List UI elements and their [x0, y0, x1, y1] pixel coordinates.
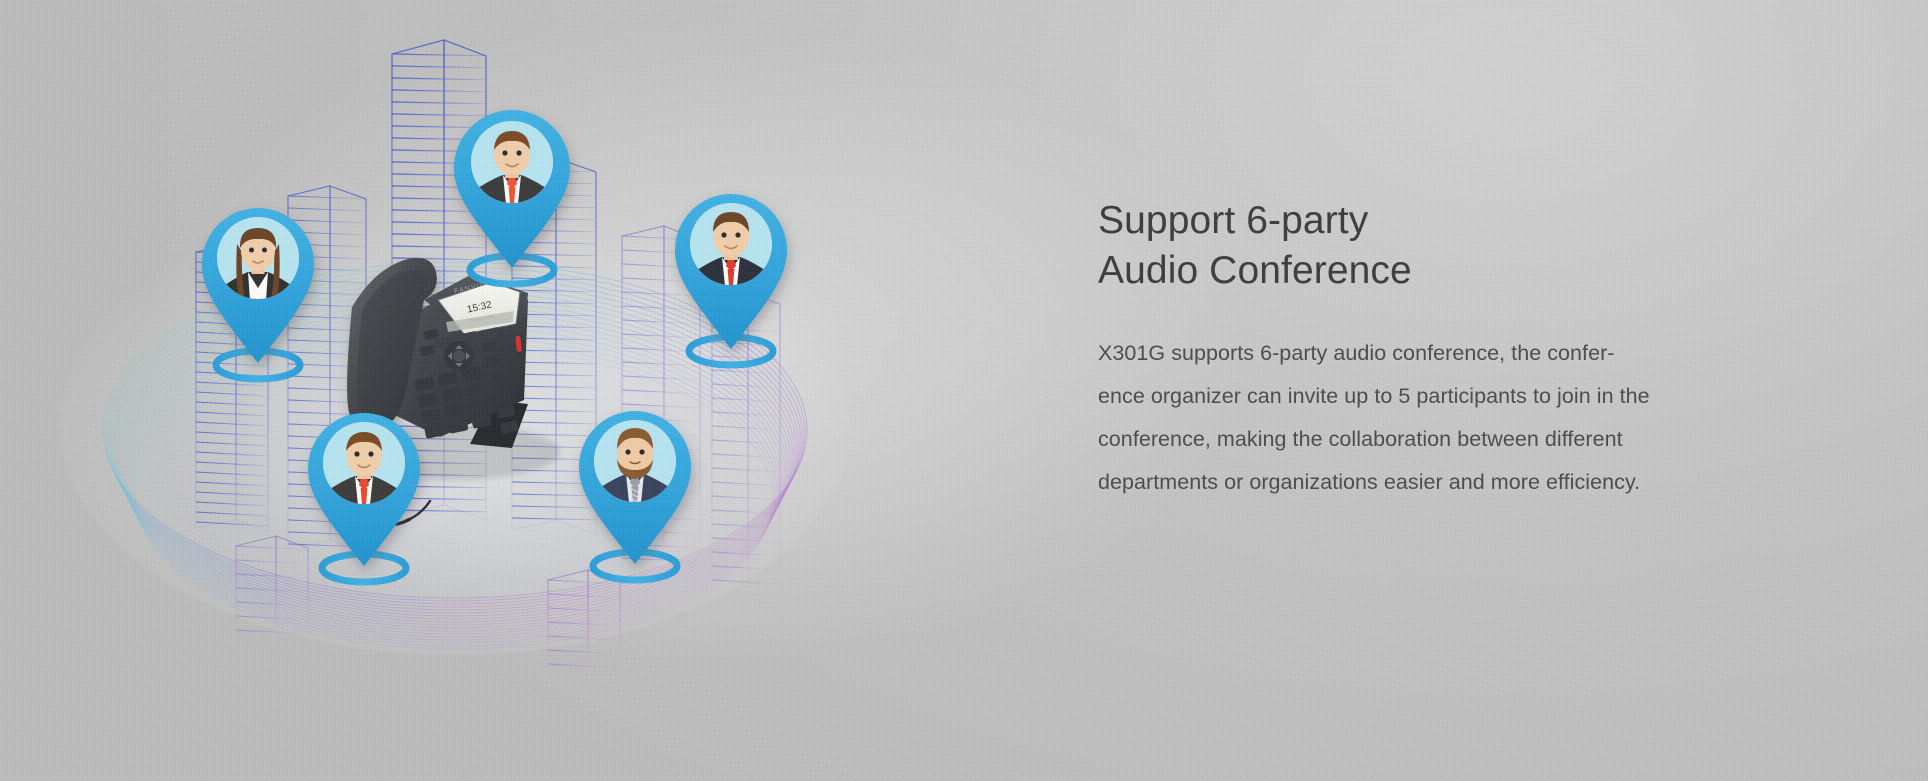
avatar-eye-left [502, 150, 507, 155]
avatar-eye-left [354, 451, 359, 456]
copy-block: Support 6-party Audio Conference X301G s… [1098, 196, 1758, 504]
promo-banner: FANVIL 15:32 31 AUG FRI [0, 0, 1928, 781]
illustration-svg: FANVIL 15:32 31 AUG FRI [0, 0, 1030, 781]
description-line: X301G supports 6-party audio conference,… [1098, 332, 1758, 375]
conference-illustration: FANVIL 15:32 31 AUG FRI [0, 0, 1030, 781]
avatar-eye-left [249, 248, 254, 253]
avatar-eye-left [721, 232, 726, 237]
avatar-eye-right [735, 232, 740, 237]
avatar-eye-right [639, 449, 644, 454]
page-title: Support 6-party Audio Conference [1098, 196, 1758, 296]
avatar-eye-right [516, 150, 521, 155]
avatar-eye-right [368, 451, 373, 456]
description-line: departments or organizations easier and … [1098, 461, 1758, 504]
description-line: ence organizer can invite up to 5 partic… [1098, 375, 1758, 418]
description: X301G supports 6-party audio conference,… [1098, 332, 1758, 504]
avatar-eye-right [262, 248, 267, 253]
avatar-eye-left [625, 449, 630, 454]
description-line: conference, making the collaboration bet… [1098, 418, 1758, 461]
phone-navigation-cluster [444, 341, 474, 371]
